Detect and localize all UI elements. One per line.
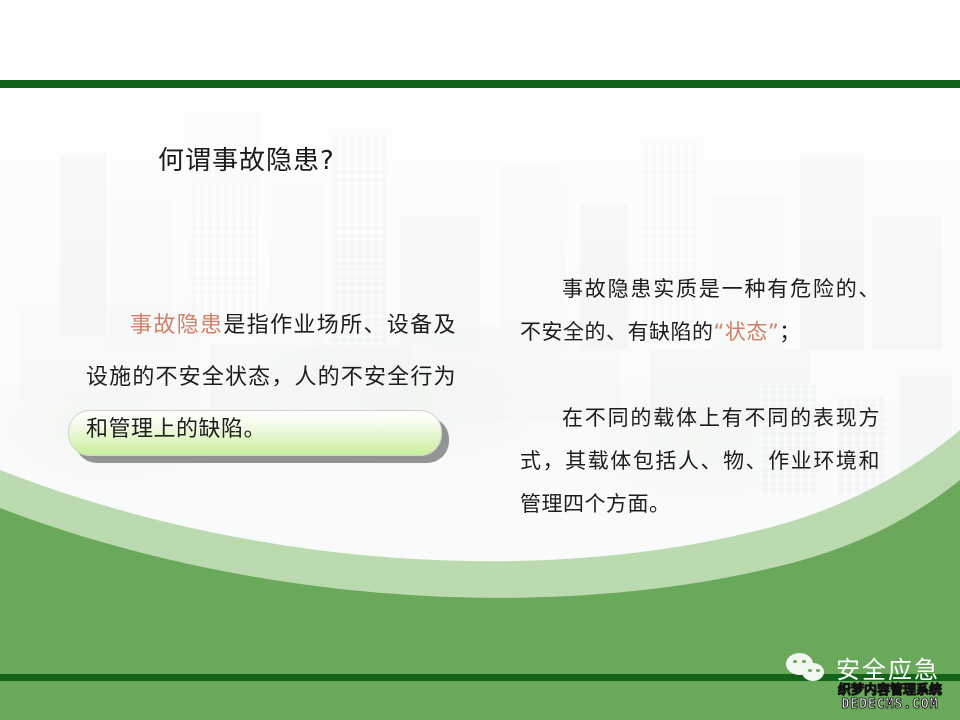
brand-name-label: 安全应急 — [836, 650, 940, 685]
right-paragraph-1-tail: ； — [779, 320, 801, 344]
right-paragraph-2: 在不同的载体上有不同的表现方式，其载体包括人、物、作业环境和管理四个方面。 — [520, 397, 880, 526]
footer-brand: 安全应急 — [786, 650, 940, 685]
wechat-eye — [816, 669, 820, 673]
watermark-cn-text: 织梦内容管理系统 — [838, 684, 942, 698]
left-definition-paragraph: 事故隐患是指作业场所、设备及设施的不安全状态，人的不安全行为和管理上的缺陷。 — [86, 300, 456, 456]
slide-canvas: 何谓事故隐患? 事故隐患是指作业场所、设备及设施的不安全状态，人的不安全行为和管… — [0, 0, 960, 720]
wechat-eye — [808, 669, 812, 673]
right-explanation-column: 事故隐患实质是一种有危险的、不安全的、有缺陷的“状态”； 在不同的载体上有不同的… — [520, 268, 880, 526]
top-green-rule — [0, 80, 960, 88]
wechat-icon — [786, 653, 826, 683]
page-title: 何谓事故隐患? — [158, 140, 335, 177]
accent-term-zhuangtai: “状态” — [714, 320, 780, 344]
wechat-eye — [802, 660, 806, 664]
right-paragraph-1: 事故隐患实质是一种有危险的、不安全的、有缺陷的“状态”； — [520, 268, 880, 354]
accent-term-shigu-yinhuan: 事故隐患 — [130, 313, 223, 338]
wechat-eye — [793, 660, 797, 664]
watermark-en-text: DEDECMS.COM — [838, 698, 942, 712]
watermark: 织梦内容管理系统 DEDECMS.COM — [838, 684, 942, 711]
wechat-bubble-small — [802, 663, 824, 681]
right-paragraph-1-lead: 事故隐患实质是一种有危险的、不安全的、有缺陷的 — [520, 277, 880, 344]
